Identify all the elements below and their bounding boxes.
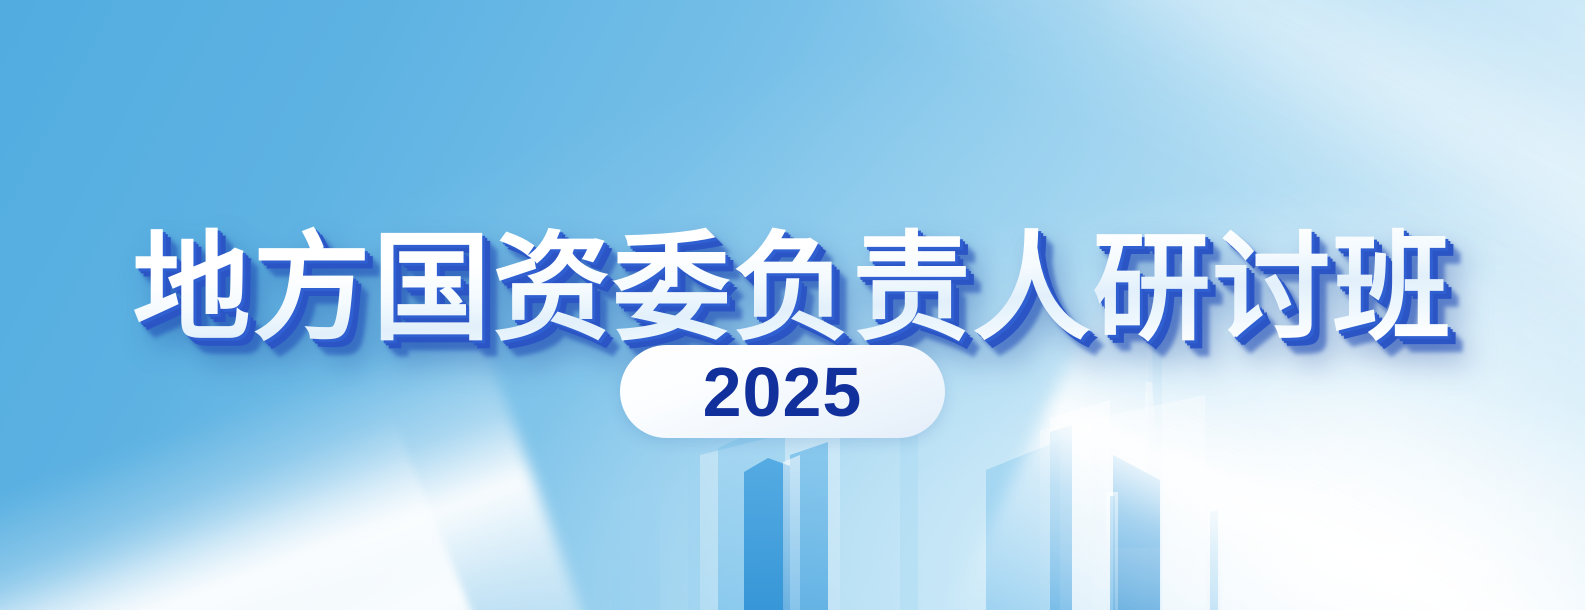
banner-title: 地方国资委负责人研讨班 xyxy=(132,219,1452,358)
event-banner: 地方国资委负责人研讨班 2025 xyxy=(0,0,1585,610)
year-badge-label: 2025 xyxy=(703,357,863,427)
year-badge: 2025 xyxy=(620,345,945,438)
